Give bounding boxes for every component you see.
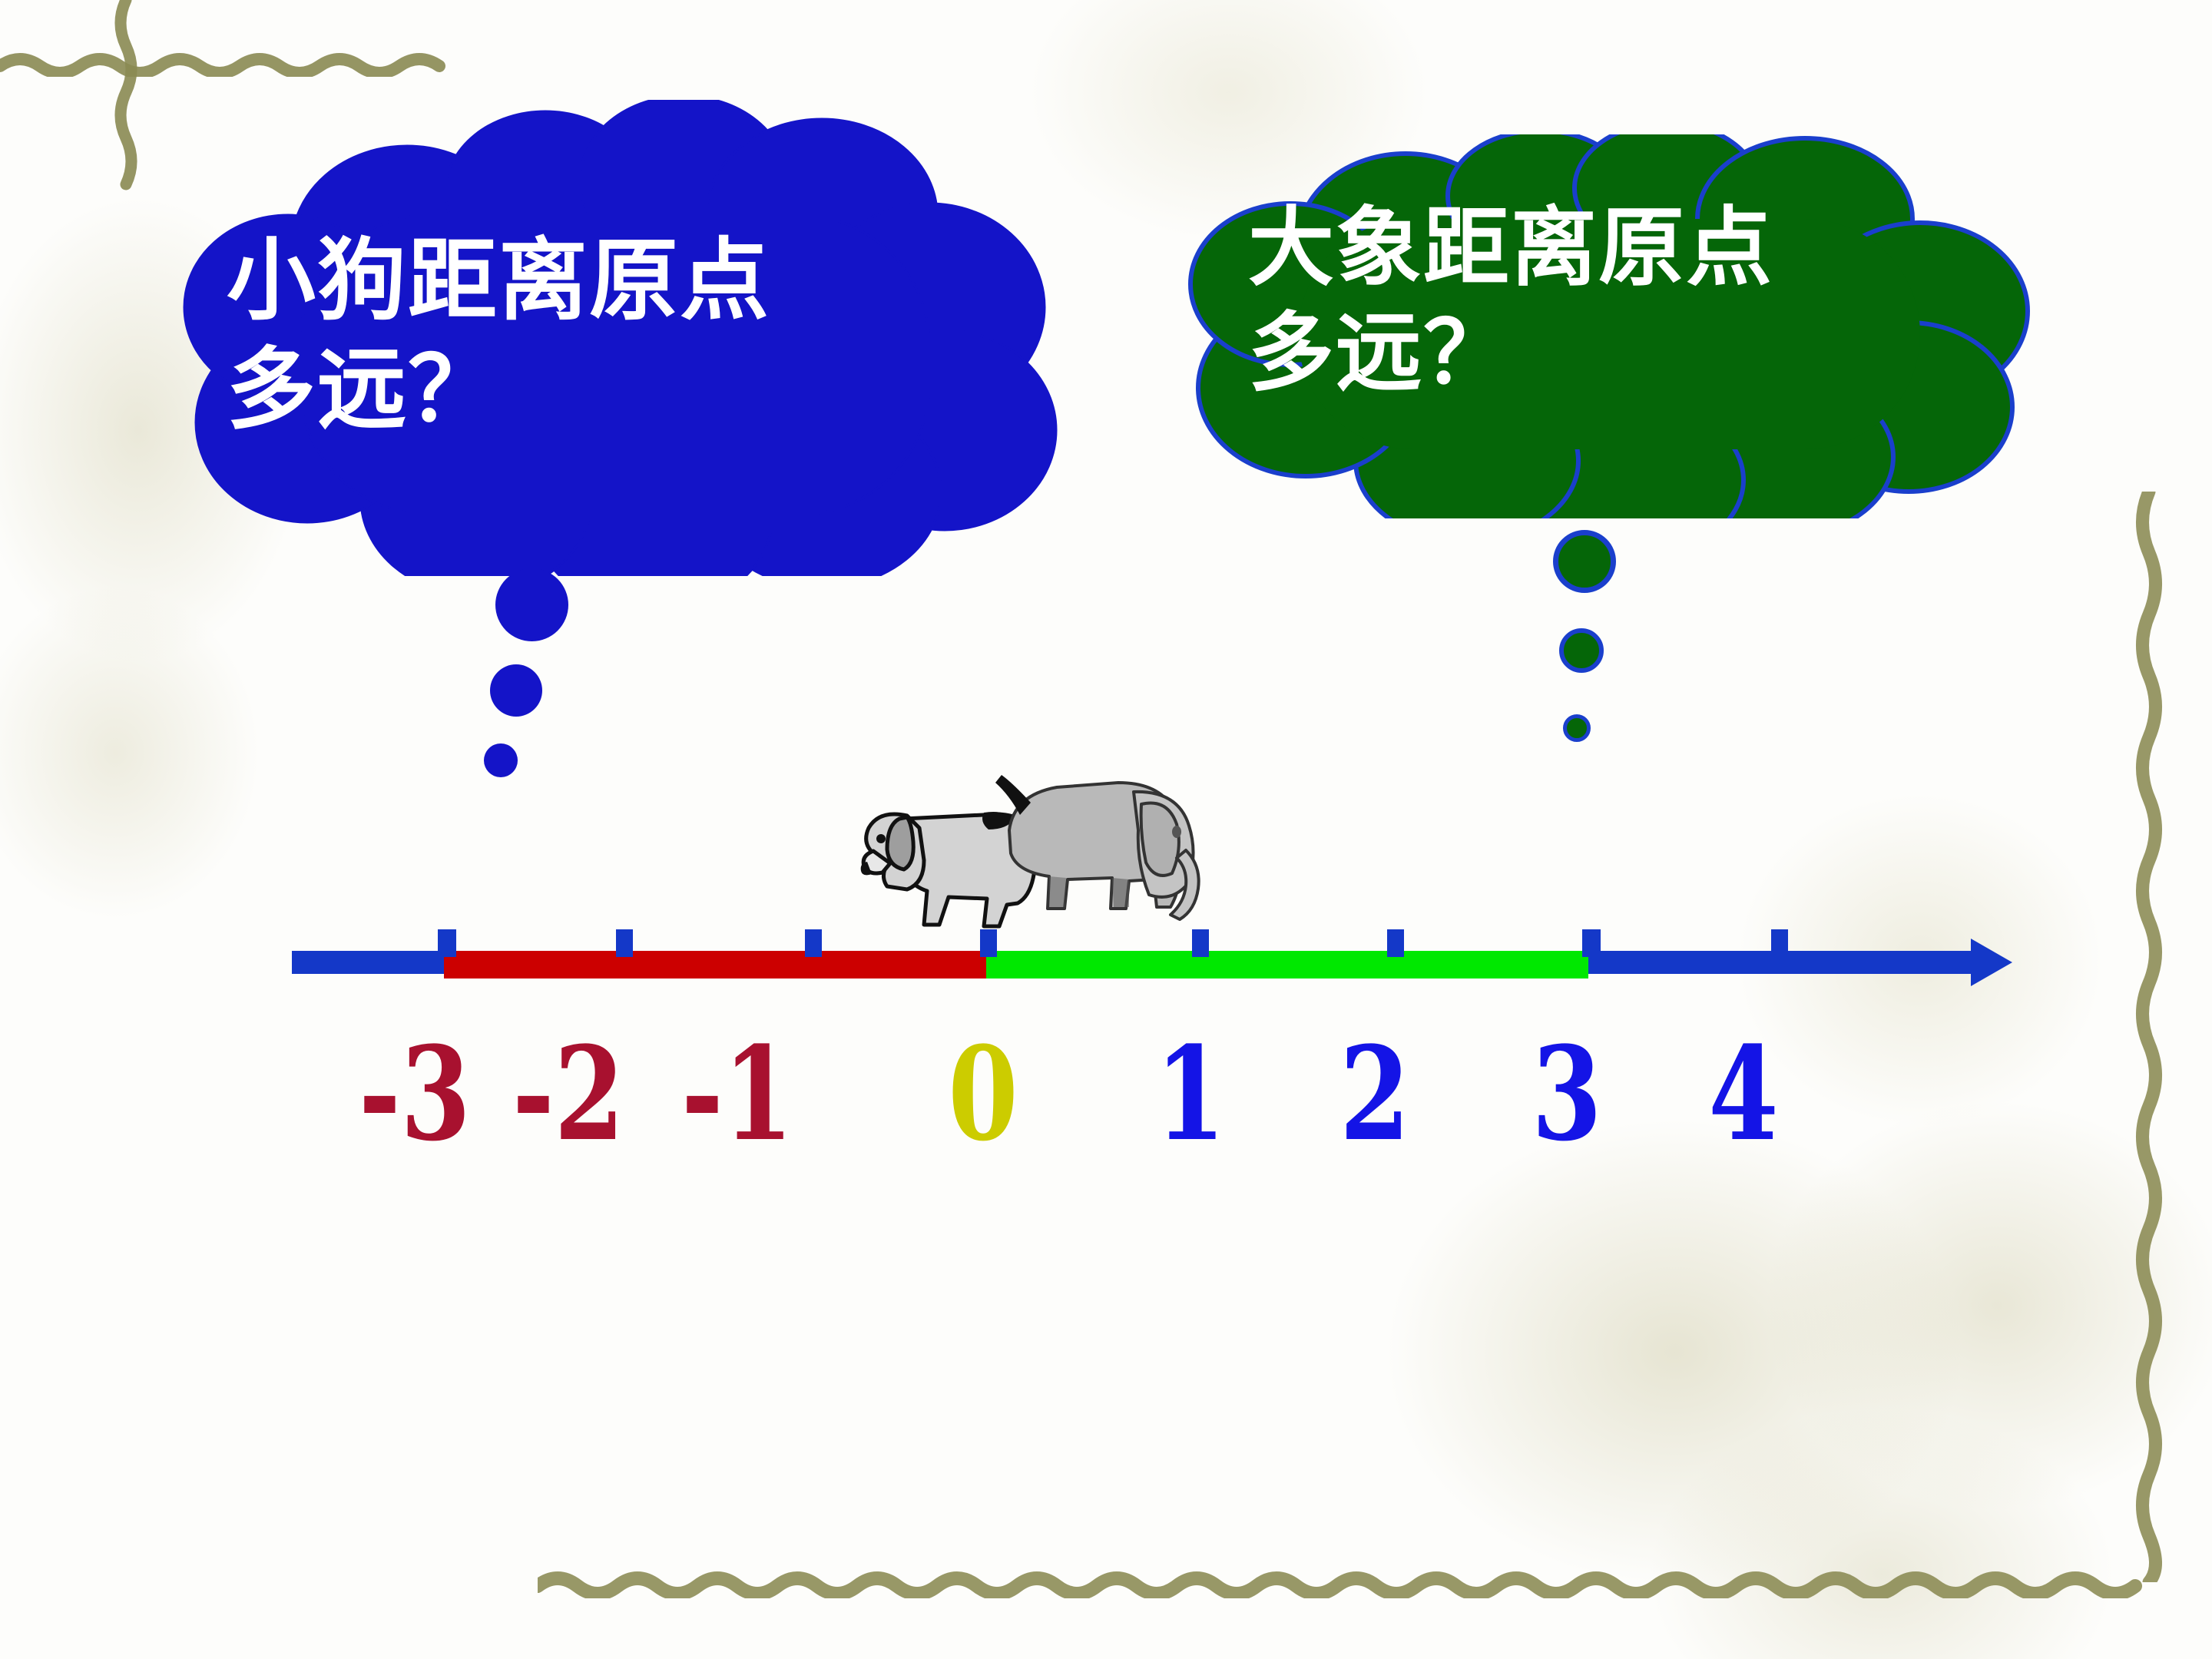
tick--1	[805, 929, 822, 957]
slide-canvas: 小狗距离原点 多远？ 大象距离原点 多远？	[0, 0, 2212, 1659]
segment-left-tail	[292, 951, 444, 974]
number-label--1: -1	[660, 1029, 816, 1158]
tick--3	[438, 929, 456, 957]
tick-2	[1387, 929, 1404, 957]
segment-elephant-distance	[986, 951, 1588, 979]
number-label-0: 0	[929, 1029, 1037, 1158]
number-label-3: 3	[1513, 1029, 1621, 1158]
number-label-2: 2	[1321, 1029, 1429, 1158]
number-label--3: -3	[337, 1029, 493, 1158]
axis-arrowhead	[1971, 939, 2012, 986]
number-label-4: 4	[1690, 1029, 1797, 1158]
tick-3	[1582, 929, 1601, 957]
tick-1	[1192, 929, 1209, 957]
number-line	[0, 0, 2212, 1659]
tick--2	[616, 929, 633, 957]
tick-0	[980, 929, 997, 957]
number-label-1: 1	[1137, 1029, 1244, 1158]
tick-4	[1771, 929, 1788, 957]
segment-dog-distance	[444, 951, 986, 979]
number-label--2: -2	[491, 1029, 647, 1158]
